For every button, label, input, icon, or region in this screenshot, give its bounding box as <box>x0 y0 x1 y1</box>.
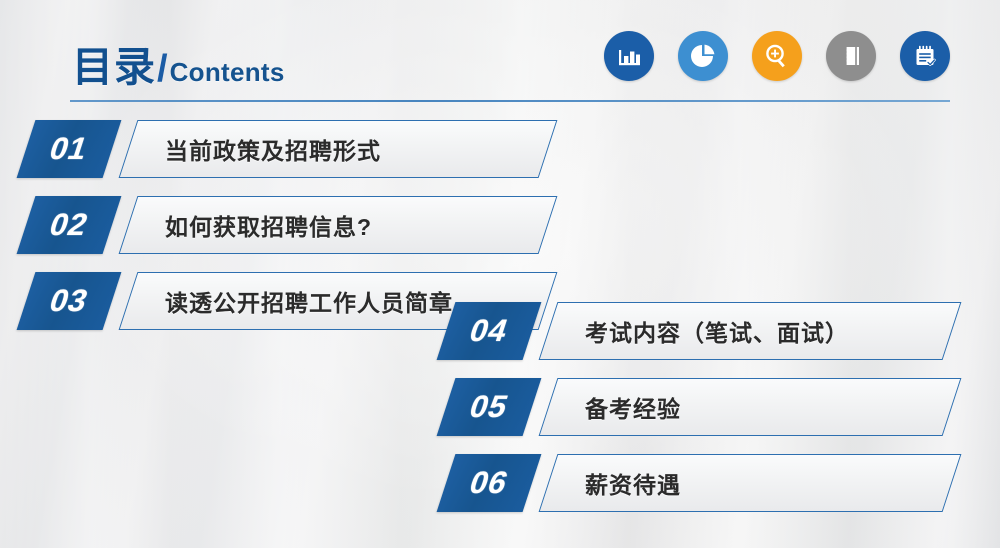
contents-item-06[interactable]: 06 薪资待遇 <box>0 454 1000 512</box>
pie-chart-icon[interactable] <box>678 31 728 81</box>
item-label-wrap: 薪资待遇 <box>585 454 681 512</box>
page-title-cn: 目录 <box>72 33 156 93</box>
item-label: 备考经验 <box>585 390 681 424</box>
slide-header: 目录 / Contents <box>0 0 1000 104</box>
spiral-notebook-icon[interactable] <box>826 31 876 81</box>
item-number: 04 <box>437 302 542 360</box>
contents-item-04[interactable]: 04 考试内容（笔试、面试） <box>0 302 1000 360</box>
item-label: 当前政策及招聘形式 <box>165 132 381 166</box>
contents-item-05[interactable]: 05 备考经验 <box>0 378 1000 436</box>
notepad-check-icon[interactable] <box>900 31 950 81</box>
item-number: 06 <box>437 454 542 512</box>
item-label: 如何获取招聘信息? <box>165 208 372 242</box>
contents-item-01[interactable]: 01 当前政策及招聘形式 <box>0 120 1000 178</box>
item-label-wrap: 如何获取招聘信息? <box>165 196 372 254</box>
item-number: 01 <box>17 120 122 178</box>
contents-item-02[interactable]: 02 如何获取招聘信息? <box>0 196 1000 254</box>
item-label: 考试内容（笔试、面试） <box>585 314 849 348</box>
bar-chart-icon[interactable] <box>604 31 654 81</box>
item-label: 薪资待遇 <box>585 466 681 500</box>
item-number: 02 <box>17 196 122 254</box>
contents-slide: 目录 / Contents <box>0 0 1000 548</box>
title-separator: / <box>157 48 168 91</box>
header-divider <box>70 100 950 102</box>
item-label-wrap: 当前政策及招聘形式 <box>165 120 381 178</box>
magnifier-zoom-in-icon[interactable] <box>752 31 802 81</box>
page-title: 目录 / Contents <box>72 33 285 93</box>
item-label-wrap: 备考经验 <box>585 378 681 436</box>
item-label-wrap: 考试内容（笔试、面试） <box>585 302 849 360</box>
header-icon-group <box>604 31 950 81</box>
item-number: 05 <box>437 378 542 436</box>
page-title-en: Contents <box>170 57 285 88</box>
